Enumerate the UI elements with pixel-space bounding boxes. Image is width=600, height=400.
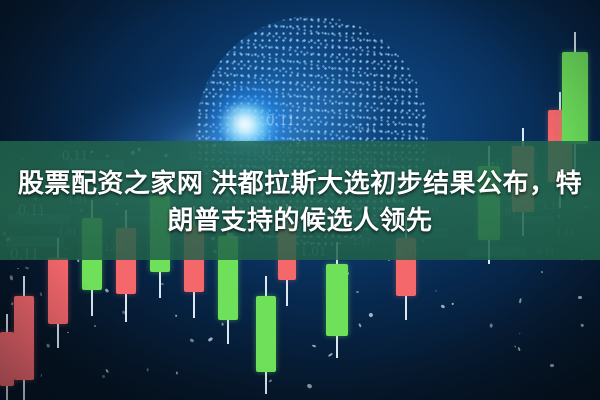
headline-line-2: 朗普支持的候选人领先 <box>14 202 586 239</box>
headline-text: 股票配资之家网 洪都拉斯大选初步结果公布，特 朗普支持的候选人领先 <box>0 165 600 239</box>
headline-line-1: 股票配资之家网 洪都拉斯大选初步结果公布，特 <box>14 165 586 202</box>
news-cover-image: 0.110.211.113.110.111.011.010.210.111.01… <box>0 0 600 400</box>
